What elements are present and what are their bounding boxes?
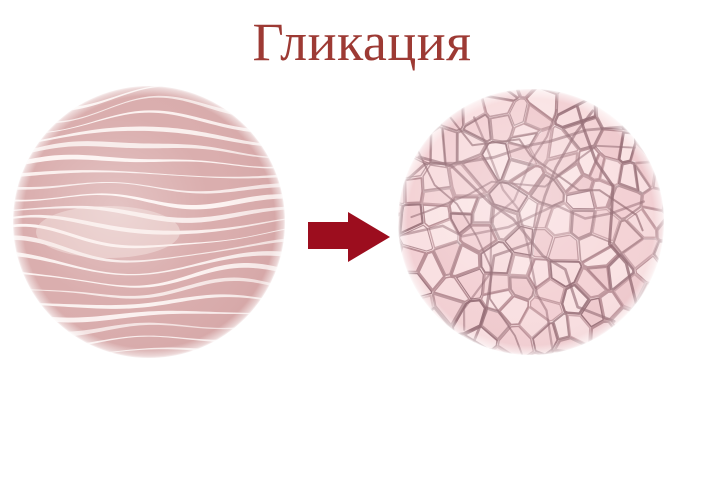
crack-line xyxy=(390,81,438,130)
crack-line xyxy=(591,350,649,364)
glycated-edge-feather xyxy=(397,88,665,356)
crack-highlight xyxy=(400,334,452,349)
crack-highlight xyxy=(400,299,414,342)
skin-fragment xyxy=(512,359,525,365)
crack-line xyxy=(512,359,525,365)
crack-highlight xyxy=(403,273,404,293)
crack-highlight xyxy=(631,322,635,335)
skin-fragment xyxy=(392,336,457,364)
crack-highlight xyxy=(487,81,494,91)
crack-line xyxy=(664,192,674,215)
panel-healthy-skin xyxy=(7,63,291,405)
page-canvas: Гликация xyxy=(0,0,724,477)
crack-line xyxy=(399,80,457,112)
skin-fragment xyxy=(389,269,403,296)
crack-highlight xyxy=(420,131,430,132)
wave-line xyxy=(7,63,291,80)
crack-line xyxy=(461,350,491,364)
skin-fragment xyxy=(389,98,418,150)
skin-fragment xyxy=(664,192,674,215)
crack-line xyxy=(633,310,673,328)
skin-fragment xyxy=(461,350,491,364)
skin-fragment xyxy=(388,298,399,359)
skin-fragment xyxy=(471,80,485,96)
healthy-edge-feather xyxy=(12,85,286,359)
skin-fragment xyxy=(388,166,395,179)
skin-fragment xyxy=(447,80,472,95)
skin-fragment xyxy=(588,79,595,83)
wave-line xyxy=(7,357,291,378)
crack-highlight xyxy=(619,331,629,334)
skin-fragment xyxy=(399,295,414,342)
crack-line xyxy=(574,354,594,365)
arrow-right-icon xyxy=(308,212,390,262)
crack-line xyxy=(471,80,485,96)
crack-line xyxy=(628,80,673,127)
crack-highlight xyxy=(482,95,484,96)
crack-line xyxy=(623,88,640,130)
crack-line xyxy=(447,80,472,95)
skin-fragment xyxy=(628,80,673,127)
transition-arrow xyxy=(308,212,390,262)
skin-fragment xyxy=(591,350,649,364)
crack-highlight xyxy=(471,95,481,97)
crack-line xyxy=(611,332,637,352)
crack-highlight xyxy=(619,332,629,335)
crack-line xyxy=(668,253,674,291)
crack-line xyxy=(392,336,457,364)
crack-highlight xyxy=(490,350,493,364)
crack-highlight xyxy=(597,86,624,101)
skin-fragment xyxy=(482,79,494,90)
crack-line xyxy=(399,295,414,342)
skin-fragment xyxy=(656,135,673,171)
crack-line xyxy=(482,79,494,90)
skin-fragment xyxy=(574,354,594,365)
crack-highlight xyxy=(399,80,439,112)
skin-fragment xyxy=(631,322,673,364)
skin-fragment xyxy=(399,80,457,112)
skin-fragment xyxy=(623,88,640,130)
crack-line xyxy=(389,98,418,150)
wave-line xyxy=(7,380,291,405)
crack-line xyxy=(389,269,403,296)
skin-fragment xyxy=(633,310,673,328)
crack-highlight xyxy=(588,79,590,83)
skin-fragment xyxy=(591,80,630,102)
crack-line xyxy=(656,135,673,171)
crack-line xyxy=(631,322,673,364)
crack-highlight xyxy=(400,307,433,347)
skin-fragment xyxy=(611,332,637,352)
wave-line xyxy=(7,368,291,393)
crack-highlight xyxy=(657,166,674,173)
skin-fragment xyxy=(668,253,674,291)
crack-line xyxy=(591,80,630,102)
panel-glycated-skin xyxy=(388,79,673,365)
crack-line xyxy=(588,79,595,83)
crack-line xyxy=(388,166,395,179)
crack-highlight xyxy=(671,288,674,291)
skin-fragment xyxy=(390,81,438,130)
crack-highlight xyxy=(591,351,592,353)
crack-highlight xyxy=(462,94,470,95)
crack-line xyxy=(388,298,399,359)
skin-fragment xyxy=(388,144,399,167)
crack-highlight xyxy=(668,214,673,215)
diagram-svg xyxy=(0,0,724,477)
comparison-diagram xyxy=(0,0,724,477)
crack-highlight xyxy=(574,355,588,365)
crack-line xyxy=(388,144,399,167)
